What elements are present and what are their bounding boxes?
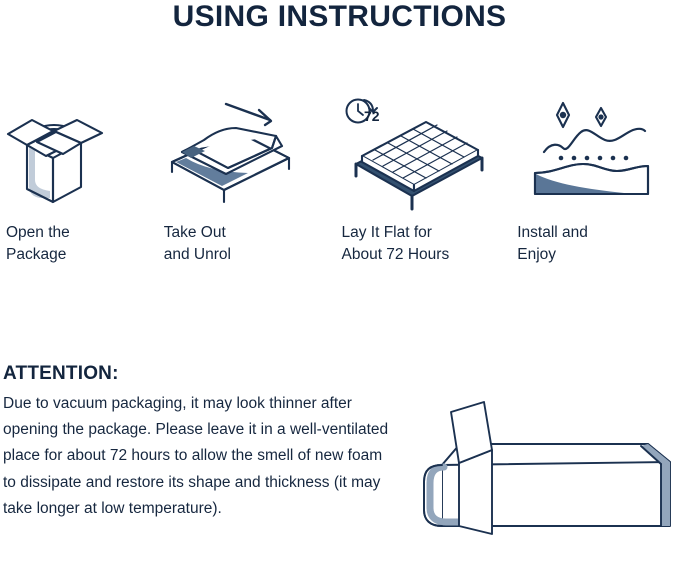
open-box-icon <box>6 90 166 210</box>
instruction-step-3: 72 Lay It Flat for About 72 Hours <box>342 90 504 270</box>
attention-body-text: Due to vacuum packaging, it may look thi… <box>3 391 395 522</box>
instruction-step-2: Take Out and Unrol <box>164 90 326 270</box>
open-box-with-rolled-mattress-icon <box>380 398 679 563</box>
instruction-step-2-label: Take Out and Unrol <box>164 222 334 266</box>
flat-mattress-clock-icon: 72 <box>342 90 502 210</box>
instruction-steps-row: Open the Package <box>0 90 679 270</box>
clock-hours-value: 72 <box>364 108 380 124</box>
attention-heading: ATTENTION: <box>3 363 119 385</box>
instruction-step-1-label: Open the Package <box>6 222 176 266</box>
page-title: USING INSTRUCTIONS <box>0 0 679 34</box>
fresh-mattress-sparkle-icon <box>517 90 677 210</box>
unroll-mattress-arrow-icon <box>164 90 324 210</box>
instruction-step-3-label: Lay It Flat for About 72 Hours <box>342 222 512 266</box>
instruction-step-4: Install and Enjoy <box>517 90 679 270</box>
instruction-step-4-label: Install and Enjoy <box>517 222 679 266</box>
instruction-step-1: Open the Package <box>6 90 168 270</box>
